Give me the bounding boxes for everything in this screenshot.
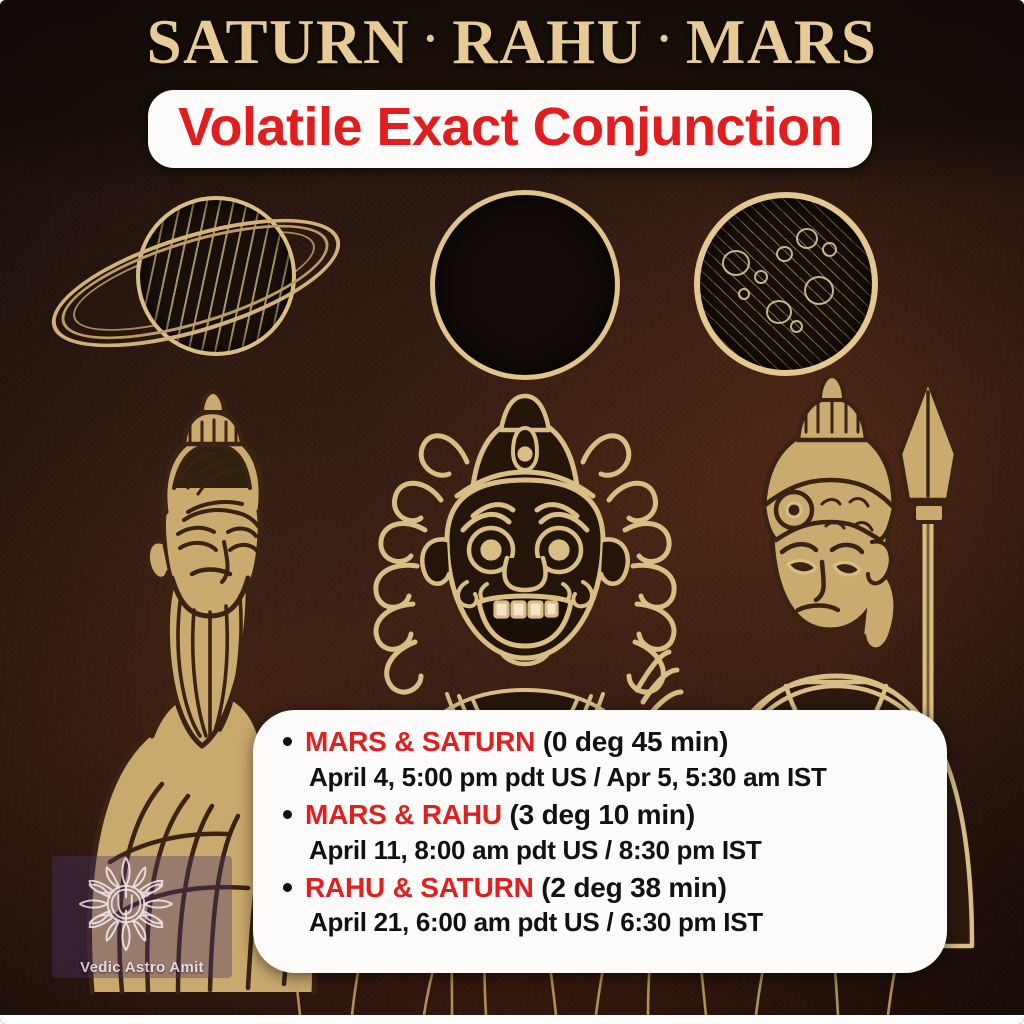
mars-disc <box>694 192 878 376</box>
watermark-text: Vedic Astro Amit <box>52 959 232 976</box>
conjunction-list: MARS & SATURN (0 deg 45 min) April 4, 5:… <box>277 724 925 940</box>
mars-crater <box>754 270 768 284</box>
list-bullet <box>283 883 292 892</box>
mars-crater <box>776 246 793 262</box>
subtitle-text: Volatile Exact Conjunction <box>178 96 842 158</box>
mars-crater <box>790 320 803 333</box>
event-heading: MARS & RAHU (3 deg 10 min) <box>305 797 925 834</box>
event-heading: RAHU & SATURN (2 deg 38 min) <box>305 870 925 907</box>
event-orb: (0 deg 45 min) <box>543 726 728 757</box>
list-bullet <box>283 810 292 819</box>
mars-crater <box>766 300 792 324</box>
title-word-rahu: RAHU <box>452 7 644 77</box>
title-separator-1: · <box>423 13 439 64</box>
poster-canvas: SATURN·RAHU·MARS Volatile Exact Conjunct… <box>0 0 1024 1024</box>
cratered-planet-icon <box>694 192 866 364</box>
event-orb: (3 deg 10 min) <box>510 799 695 830</box>
event-orb: (2 deg 38 min) <box>541 872 726 903</box>
subtitle-banner: Volatile Exact Conjunction <box>148 90 872 168</box>
event-datetime: April 11, 8:00 am pdt US / 8:30 pm IST <box>309 834 925 868</box>
event-datetime: April 4, 5:00 pm pdt US / Apr 5, 5:30 am… <box>309 761 925 795</box>
sun-burst-logo-icon <box>78 856 174 952</box>
bottom-white-strip <box>0 1015 1024 1024</box>
mars-crater <box>804 276 834 305</box>
event-heading: MARS & SATURN (0 deg 45 min) <box>305 724 925 761</box>
title-word-saturn: SATURN <box>147 7 410 77</box>
mars-crater <box>738 288 750 300</box>
event-datetime: April 21, 6:00 am pdt US / 6:30 pm IST <box>309 906 925 940</box>
eclipse-dark-disc-icon <box>430 190 610 370</box>
mars-crater <box>722 250 750 276</box>
title-word-mars: MARS <box>686 7 878 77</box>
saturn-ringed-planet-icon <box>44 182 344 378</box>
list-item: MARS & RAHU (3 deg 10 min) April 11, 8:0… <box>305 797 925 868</box>
list-item: RAHU & SATURN (2 deg 38 min) April 21, 6… <box>305 870 925 941</box>
list-bullet <box>283 737 292 746</box>
watermark: Vedic Astro Amit <box>52 856 232 978</box>
eclipse-disc <box>430 190 620 380</box>
event-pair: MARS & SATURN <box>305 726 535 757</box>
title-separator-2: · <box>657 13 673 64</box>
mars-crater <box>796 228 818 249</box>
event-pair: MARS & RAHU <box>305 799 502 830</box>
page-title: SATURN·RAHU·MARS <box>0 6 1024 79</box>
conjunction-info-card: MARS & SATURN (0 deg 45 min) April 4, 5:… <box>253 710 947 973</box>
mars-crater <box>822 242 837 257</box>
event-pair: RAHU & SATURN <box>305 872 534 903</box>
list-item: MARS & SATURN (0 deg 45 min) April 4, 5:… <box>305 724 925 795</box>
